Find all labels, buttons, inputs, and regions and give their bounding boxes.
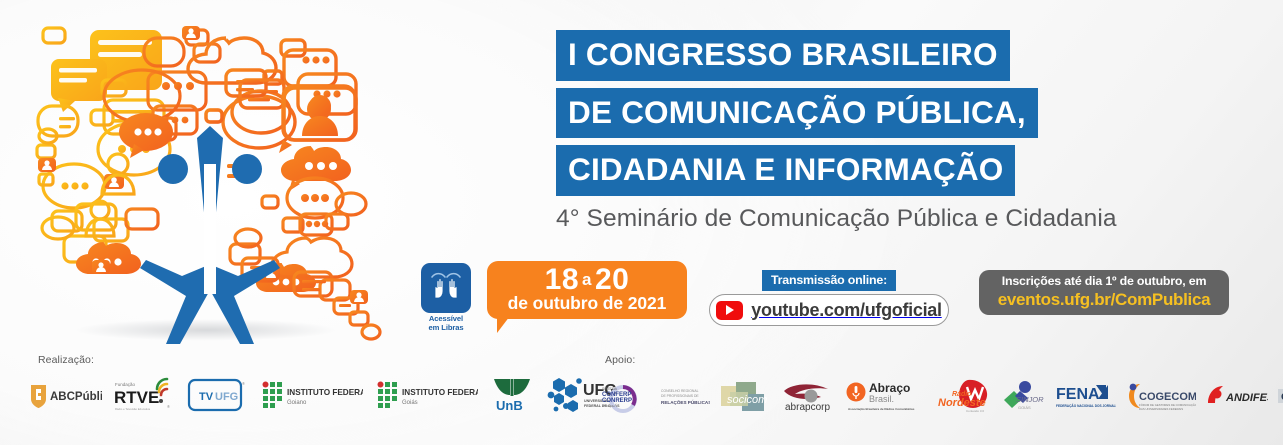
event-date-month-year: de outubro de 2021 (487, 295, 687, 313)
svg-text:Fundação: Fundação (115, 382, 136, 387)
svg-text:UnB: UnB (496, 398, 523, 413)
event-banner: I CONGRESSO BRASILEIRO DE COMUNICAÇÃO PÚ… (0, 0, 1283, 445)
youtube-channel-link[interactable]: youtube.com/ufgoficial (709, 294, 949, 326)
svg-text:abrapcorp: abrapcorp (785, 402, 830, 413)
svg-text:®: ® (242, 381, 245, 386)
libras-icon-box (421, 263, 471, 313)
libras-caption-line2: em Libras (421, 324, 471, 333)
date-separator: a (579, 270, 595, 289)
cogecom-logo[interactable]: COGECOM FÓRUM DE GESTORES DE COMUNICAÇÃO… (1124, 380, 1196, 412)
svg-text:Nordeste: Nordeste (938, 397, 986, 409)
sinjor-goias-logo[interactable]: SINJOR GOIÁS (1000, 378, 1046, 414)
svg-text:DAS UNIVERSIDADES FEDERAIS: DAS UNIVERSIDADES FEDERAIS (1139, 407, 1183, 411)
svg-text:socicom: socicom (727, 394, 767, 406)
title-block: I CONGRESSO BRASILEIRO DE COMUNICAÇÃO PÚ… (556, 30, 1116, 233)
svg-text:ANDIFES: ANDIFES (1225, 392, 1268, 404)
instituto-federal-goias-logo[interactable]: INSTITUTO FEDERAL Goiás (374, 378, 478, 412)
svg-text:GOIÁS: GOIÁS (1018, 405, 1031, 410)
title-line-1: I CONGRESSO BRASILEIRO (556, 30, 1010, 81)
svg-text:FEDERAÇÃO NACIONAL DOS JORNALI: FEDERAÇÃO NACIONAL DOS JORNALISTAS (1056, 403, 1116, 408)
svg-text:FENA: FENA (1056, 386, 1100, 403)
event-subtitle: 4° Seminário de Comunicação Pública e Ci… (556, 205, 1116, 233)
socicom-logo[interactable]: socicom (718, 378, 772, 414)
svg-text:INSTITUTO FEDERAL: INSTITUTO FEDERAL (402, 388, 478, 397)
apoio-logo-row: SISTEMA CONFERP CONRERP 2ª Região CONSEL… (600, 374, 1283, 418)
apoio-label: Apoio: (605, 354, 635, 366)
conferp-conrerp-logo[interactable]: SISTEMA CONFERP CONRERP 2ª Região (600, 378, 650, 414)
registration-url: eventos.ufg.br/ComPublica (979, 290, 1229, 310)
tvufg-logo[interactable]: TV UFG ® (186, 376, 248, 414)
speech-bubbles-illustration (34, 14, 386, 344)
svg-text:Abraço: Abraço (869, 381, 910, 395)
date-day-start: 18 (545, 263, 579, 296)
svg-text:SINJOR: SINJOR (1016, 395, 1044, 404)
svg-text:Goiano: Goiano (287, 400, 307, 406)
registration-deadline-text: Inscrições até dia 1º de outubro, em (979, 275, 1229, 289)
svg-text:RTVE: RTVE (114, 388, 159, 407)
svg-text:Associação Brasileira de Rádio: Associação Brasileira de Rádios Comunitá… (848, 407, 915, 411)
svg-text:Goiás: Goiás (402, 400, 418, 406)
title-line-2: DE COMUNICAÇÃO PÚBLICA, (556, 88, 1038, 139)
svg-text:UFG: UFG (215, 391, 238, 403)
svg-text:SISTEMA: SISTEMA (602, 387, 618, 391)
transmission-block: Transmissão online: youtube.com/ufgofici… (709, 270, 949, 326)
svg-text:Conteúdo 3.0: Conteúdo 3.0 (966, 409, 984, 413)
abcpublica-logo[interactable]: ABCPública (28, 380, 102, 410)
transmission-label: Transmissão online: (762, 270, 896, 291)
date-day-end: 20 (595, 263, 629, 296)
conselho-relacoes-publicas-logo[interactable]: CONSELHO REGIONAL DE PROFISSIONAIS DE RE… (658, 380, 710, 412)
youtube-play-icon (716, 301, 743, 320)
compolitica-logo[interactable]: COMPOLÍTICA (1276, 384, 1283, 408)
abrapcorp-logo[interactable]: abrapcorp (780, 379, 838, 413)
svg-text:2ª Região: 2ª Região (602, 404, 615, 408)
svg-text:ABCPública: ABCPública (50, 391, 102, 403)
svg-text:CONSELHO REGIONAL: CONSELHO REGIONAL (661, 389, 699, 393)
svg-text:Rádio e Televisão Educativa: Rádio e Televisão Educativa (115, 407, 151, 411)
youtube-url-text: youtube.com/ufgoficial (751, 300, 941, 321)
registration-box[interactable]: Inscrições até dia 1º de outubro, em eve… (979, 270, 1229, 315)
abraco-brasil-logo[interactable]: Abraço Brasil. Associação Brasileira de … (846, 379, 928, 413)
unb-logo[interactable]: UnB (489, 375, 535, 415)
svg-text:®: ® (167, 404, 170, 409)
title-line-3: CIDADANIA E INFORMAÇÃO (556, 145, 1015, 196)
svg-text:COGECOM: COGECOM (1139, 391, 1196, 403)
instituto-federal-goiano-logo[interactable]: INSTITUTO FEDERAL Goiano (259, 378, 363, 412)
svg-text:DE PROFISSIONAIS DE: DE PROFISSIONAIS DE (661, 394, 699, 398)
libras-caption: Acessível em Libras (421, 315, 471, 333)
svg-text:INSTITUTO FEDERAL: INSTITUTO FEDERAL (287, 388, 363, 397)
svg-text:Brasil.: Brasil. (869, 394, 894, 404)
rtve-logo[interactable]: Fundação RTVE ® Rádio e Televisão Educat… (113, 377, 175, 413)
svg-text:RELAÇÕES PÚBLICAS: RELAÇÕES PÚBLICAS (661, 399, 710, 405)
andifes-logo[interactable]: ANDIFES (1204, 383, 1268, 409)
realizacao-label: Realização: (38, 354, 94, 366)
hands-sign-language-icon (426, 268, 466, 308)
event-date-days: 18a20 (487, 261, 687, 296)
event-date-bubble: 18a20 de outubro de 2021 (487, 261, 687, 319)
realizacao-logo-row: ABCPública Fundação RTVE ® Rádio e Telev… (28, 372, 624, 418)
radio-nordeste-logo[interactable]: Rádio Nordeste Conteúdo 3.0 (936, 378, 992, 414)
libras-accessibility-badge: Acessível em Libras (421, 263, 471, 333)
fenaj-logo[interactable]: FENA FEDERAÇÃO NACIONAL DOS JORNALISTAS (1054, 381, 1116, 411)
svg-text:TV: TV (199, 391, 214, 403)
